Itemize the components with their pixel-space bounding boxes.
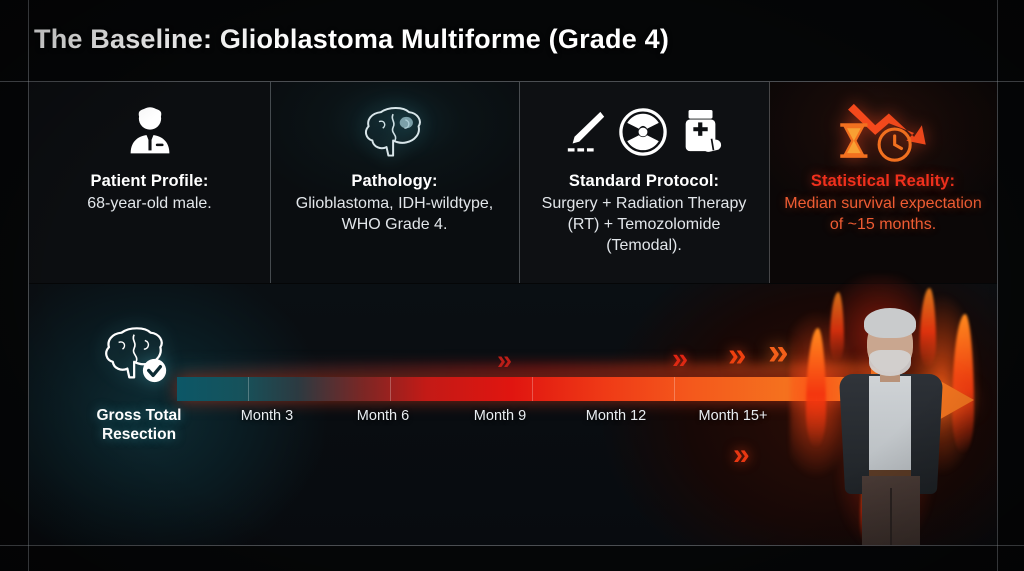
card-heading: Standard Protocol:: [569, 172, 719, 191]
chevron-double-icon: »: [733, 440, 747, 470]
timeline-bar-track: [177, 377, 889, 401]
summary-cards-row: Patient Profile: 68-year-old male. Patho…: [29, 82, 997, 283]
clock-icon: [879, 129, 910, 160]
trouser-seam: [890, 488, 892, 545]
timeline-segment-divider: [674, 377, 675, 401]
beard: [869, 350, 911, 376]
card-statistical-reality: Statistical Reality: Median survival exp…: [769, 82, 997, 283]
card-heading: Pathology:: [351, 172, 437, 191]
timeline-segment-divider: [390, 377, 391, 401]
timeline-bar-glow: [177, 363, 889, 377]
tick-label: Month 15+: [699, 408, 768, 424]
hair: [864, 308, 916, 338]
frame-line-bottom: [0, 545, 1024, 546]
page-title: The Baseline: Glioblastoma Multiforme (G…: [34, 24, 669, 55]
card-heading: Statistical Reality:: [811, 172, 955, 191]
brain-icon: [362, 96, 428, 168]
card-patient-profile: Patient Profile: 68-year-old male.: [29, 82, 270, 283]
hourglass-icon: [840, 123, 867, 158]
card-standard-protocol: Standard Protocol: Surgery + Radiation T…: [519, 82, 769, 283]
card-body: 68-year-old male.: [87, 194, 212, 215]
shirt: [869, 376, 911, 472]
scalpel-icon: [564, 108, 608, 156]
frame-line-right: [997, 0, 998, 571]
slide-root: The Baseline: Glioblastoma Multiforme (G…: [0, 0, 1024, 571]
radiation-icon: [618, 107, 668, 157]
brain-check-icon: [100, 322, 178, 388]
pill-bottle-icon: [678, 107, 724, 157]
timeline-segment-divider: [532, 377, 533, 401]
businessman-avatar-icon: [119, 96, 181, 168]
tick-label: Month 3: [241, 408, 293, 424]
card-body: Surgery + Radiation Therapy (RT) + Temoz…: [529, 194, 759, 256]
patient-photo-illustration: [800, 288, 980, 545]
timeline-segment-divider: [248, 377, 249, 401]
card-body: Glioblastoma, IDH-wildtype, WHO Grade 4.: [280, 194, 509, 236]
card-heading: Patient Profile:: [90, 172, 208, 191]
card-pathology: Pathology: Glioblastoma, IDH-wildtype, W…: [270, 82, 519, 283]
tick-label: Month 6: [357, 408, 409, 424]
title-bar: The Baseline: Glioblastoma Multiforme (G…: [0, 0, 1024, 81]
card-body: Median survival expectation of ~15 month…: [779, 194, 987, 236]
tick-label: Month 9: [474, 408, 526, 424]
elderly-man-figure: [836, 298, 944, 545]
tick-label: Month 12: [586, 408, 646, 424]
